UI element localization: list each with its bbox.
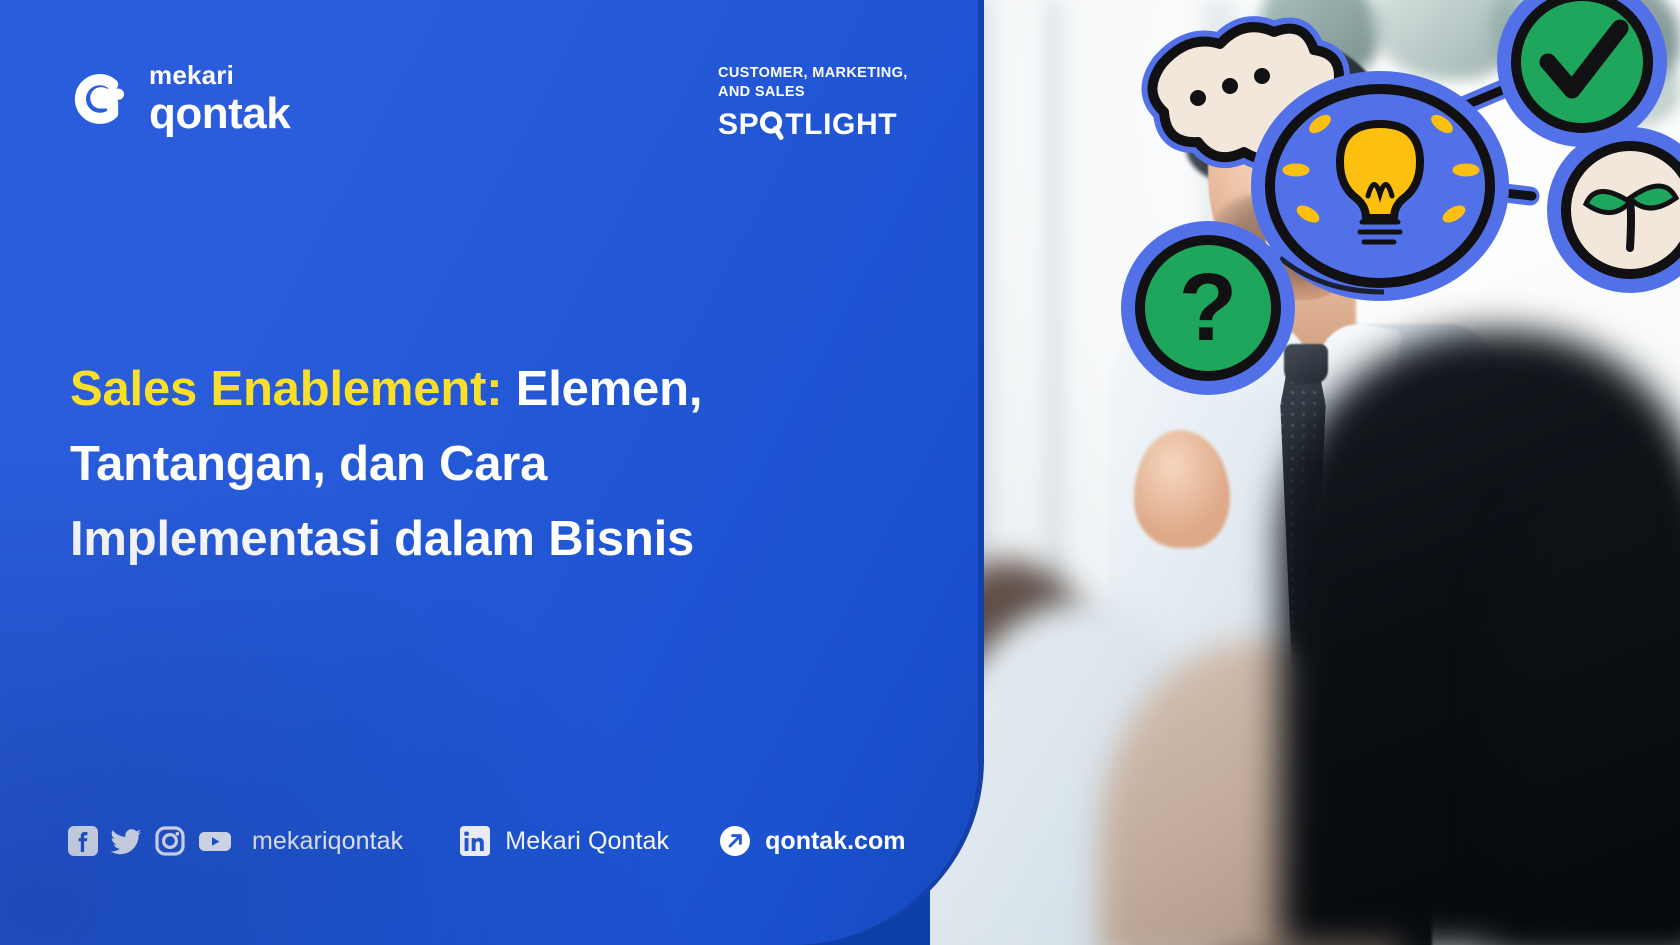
sprout-node: [1558, 138, 1680, 282]
blue-content-panel: mekari qontak CUSTOMER, MARKETING, AND S…: [0, 0, 978, 945]
youtube-icon[interactable]: [198, 826, 232, 856]
social-group: mekariqontak: [68, 826, 403, 856]
hero-photo: ?: [930, 0, 1680, 945]
spotlight-kicker-line2: AND SALES: [718, 84, 805, 100]
brand-logo[interactable]: mekari qontak: [70, 62, 290, 136]
spotlight-wordmark: SP TLIGHT: [718, 108, 918, 142]
social-handle: mekariqontak: [252, 827, 403, 856]
linkedin-group: Mekari Qontak: [460, 826, 669, 856]
spotlight-word-part2: TLIGHT: [785, 108, 897, 142]
spotlight-word-part1: SP: [718, 108, 759, 142]
arrow-up-right-circle-icon[interactable]: [719, 825, 751, 857]
instagram-icon[interactable]: [155, 826, 185, 856]
presenter-eye: [1260, 171, 1286, 181]
magnifier-icon: [759, 110, 785, 140]
logo-text-qontak: qontak: [149, 92, 290, 136]
presenter-tie-knot: [1284, 344, 1328, 384]
website-handle: qontak.com: [765, 827, 905, 856]
headline-highlight: Sales Enablement:: [70, 362, 502, 416]
twitter-icon[interactable]: [111, 826, 142, 856]
audience-head: [1490, 470, 1680, 945]
linkedin-icon[interactable]: [460, 826, 490, 856]
website-group[interactable]: qontak.com: [719, 825, 905, 857]
banner-stage: ? mekari qontak CUSTOMER, MARKETING, AND…: [0, 0, 1680, 945]
page-title: Sales Enablement: Elemen, Tantangan, dan…: [70, 352, 860, 577]
presenter-eye: [1328, 169, 1356, 179]
facebook-icon[interactable]: [68, 826, 98, 856]
mekari-qontak-logo-mark: [70, 68, 132, 130]
sprout-icon: [1586, 186, 1676, 248]
footer-social-bar: mekariqontak Mekari Qontak: [68, 825, 905, 857]
spotlight-badge: CUSTOMER, MARKETING, AND SALES SP TLIGHT: [718, 64, 918, 142]
spotlight-kicker-line1: CUSTOMER, MARKETING,: [718, 65, 908, 81]
linkedin-handle: Mekari Qontak: [505, 827, 669, 856]
logo-text-mekari: mekari: [149, 62, 290, 88]
